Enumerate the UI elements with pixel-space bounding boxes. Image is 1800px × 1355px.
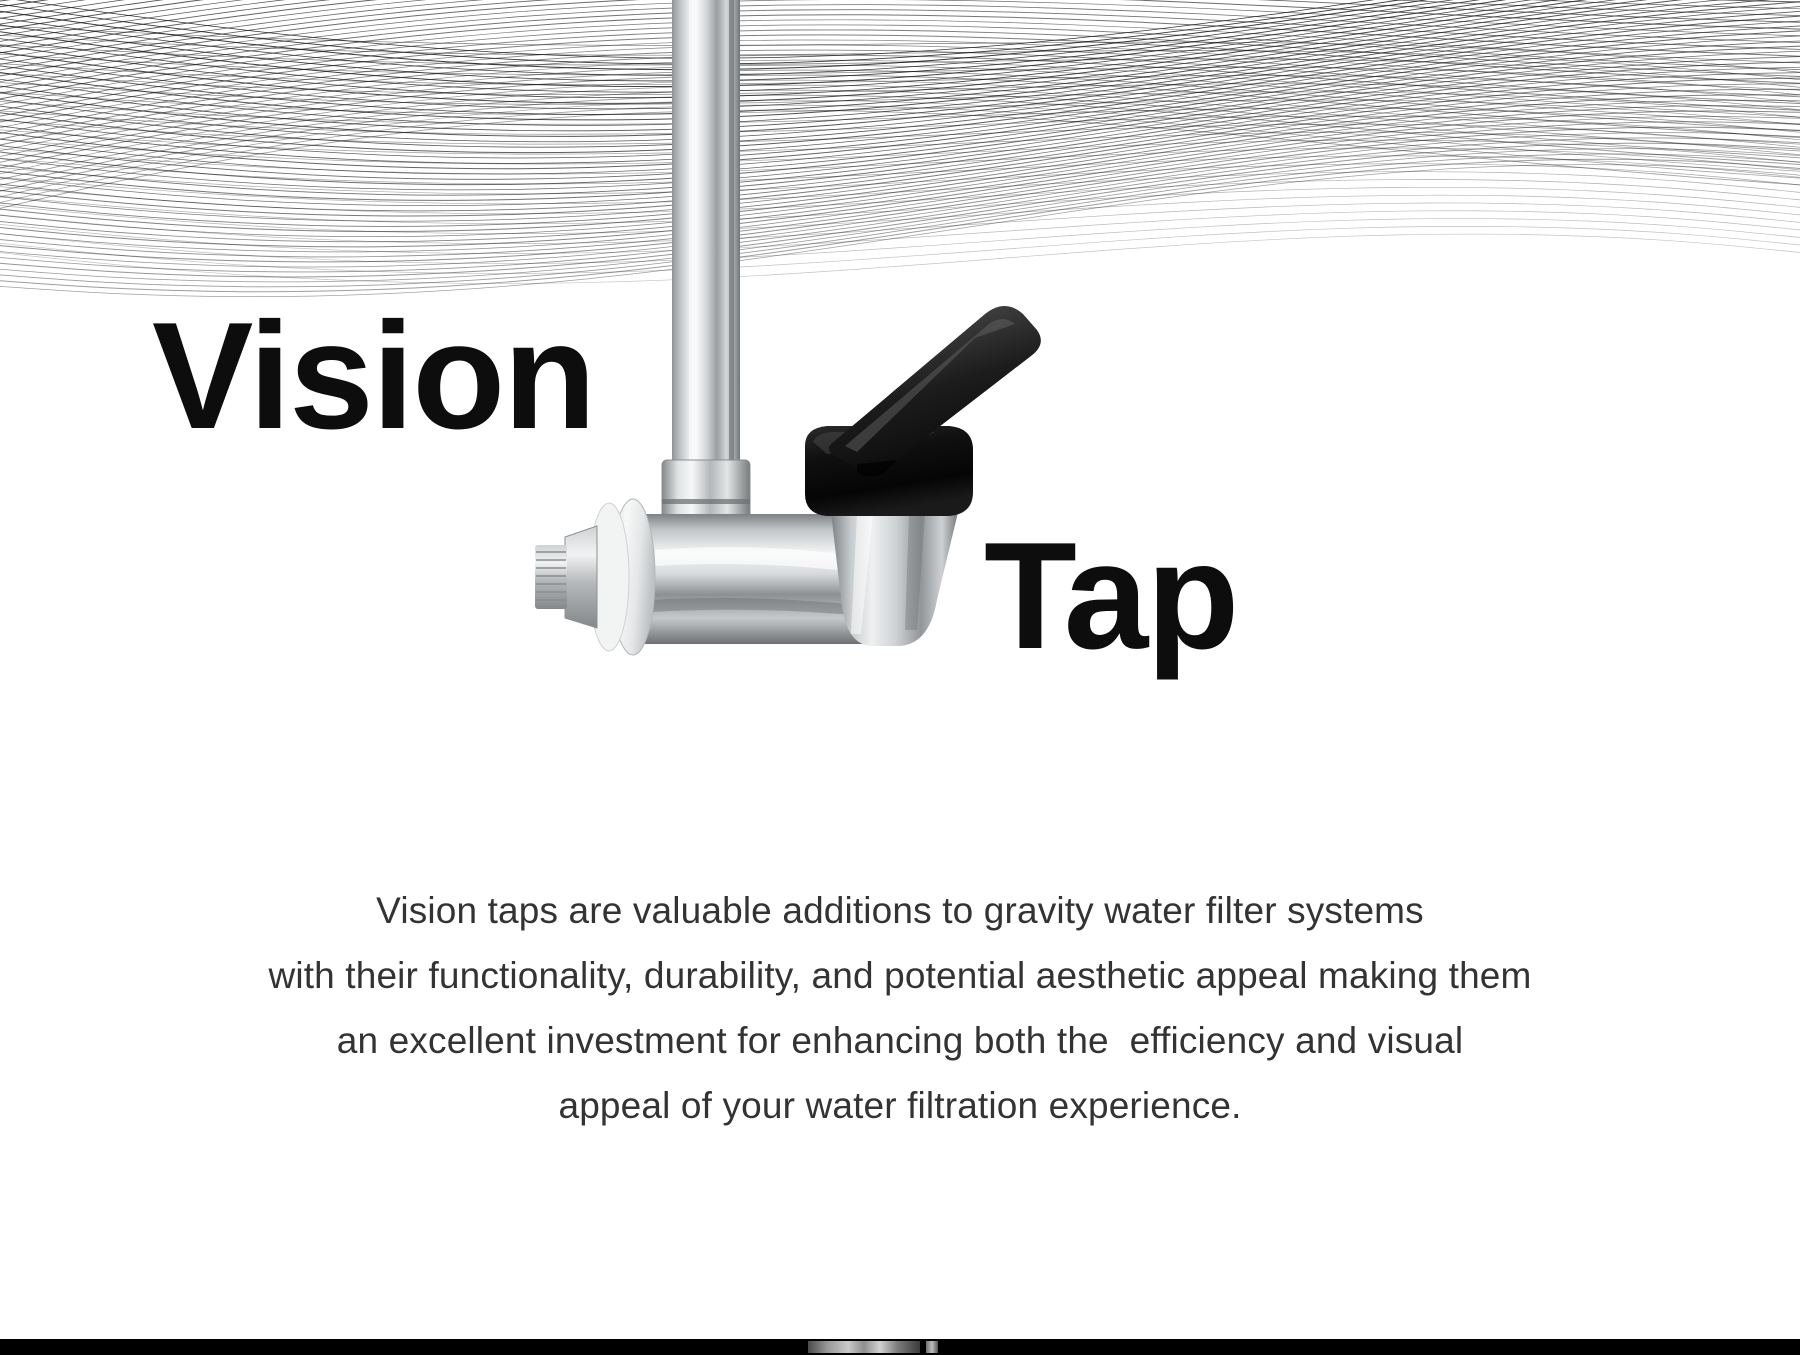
bottom-bar-metal-segment xyxy=(808,1341,920,1353)
collar-ring xyxy=(662,460,750,522)
body-copy-line-1: Vision taps are valuable additions to gr… xyxy=(0,878,1800,943)
poster-canvas: Vision Tap Vision taps are valuable addi… xyxy=(0,0,1800,1355)
body-copy-line-4: appeal of your water filtration experien… xyxy=(0,1073,1800,1138)
headline-word-tap: Tap xyxy=(984,520,1237,672)
body-copy-line-3: an excellent investment for enhancing bo… xyxy=(0,1008,1800,1073)
hex-nut xyxy=(565,526,597,628)
tapered-spout xyxy=(830,504,960,646)
headline-word-vision: Vision xyxy=(152,300,594,452)
body-copy-line-2: with their functionality, durability, an… xyxy=(0,943,1800,1008)
body-copy-paragraph: Vision taps are valuable additions to gr… xyxy=(0,878,1800,1138)
threaded-nipple xyxy=(535,545,567,609)
bottom-bar-metal-segment-small xyxy=(926,1341,938,1353)
